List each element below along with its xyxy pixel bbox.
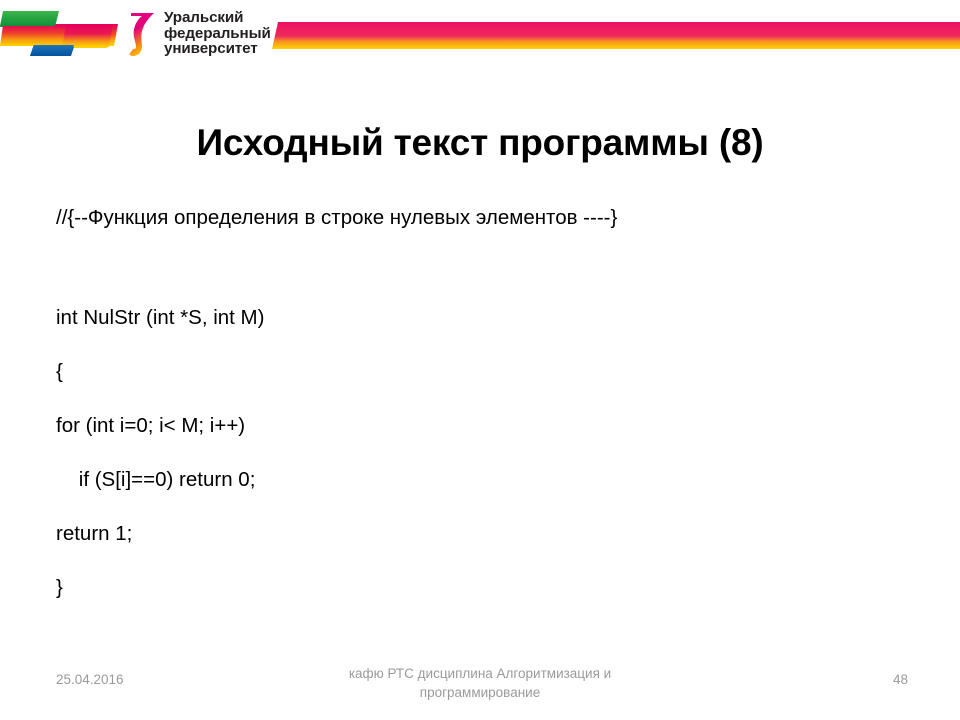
code-line: return 1; [56,522,906,576]
header-bar-main [272,22,960,49]
footer-course-label: кафю РТС дисциплина Алгоритмизация и про… [330,664,630,702]
code-line: { [56,360,906,414]
bar-blue [30,45,74,56]
code-line: //{--Функция определения в строке нулевы… [56,206,906,306]
footer-date: 25.04.2016 [56,672,124,687]
slide-footer: 25.04.2016 кафю РТС дисциплина Алгоритми… [0,658,960,720]
urfu-logo-line-1: Уральский [164,10,282,26]
urfu-swoosh-icon [128,11,158,57]
slide-body-code: //{--Функция определения в строке нулевы… [56,206,906,630]
urfu-logo: Уральский федеральный университет [128,9,278,61]
urfu-logo-wordmark: Уральский федеральный университет [164,10,282,57]
urfu-logo-line-3: университет [164,41,282,57]
bar-green [0,11,58,26]
urfu-logo-line-2: федеральный [164,26,282,42]
page-title: Исходный текст программы (8) [60,121,900,165]
footer-page-number: 48 [893,672,908,687]
code-line: if (S[i]==0) return 0; [56,468,906,522]
bar-gradient-narrow [62,25,113,47]
code-line: } [56,576,906,630]
code-line: int NulStr (int *S, int M) [56,306,906,360]
code-line: for (int i=0; i< M; i++) [56,414,906,468]
